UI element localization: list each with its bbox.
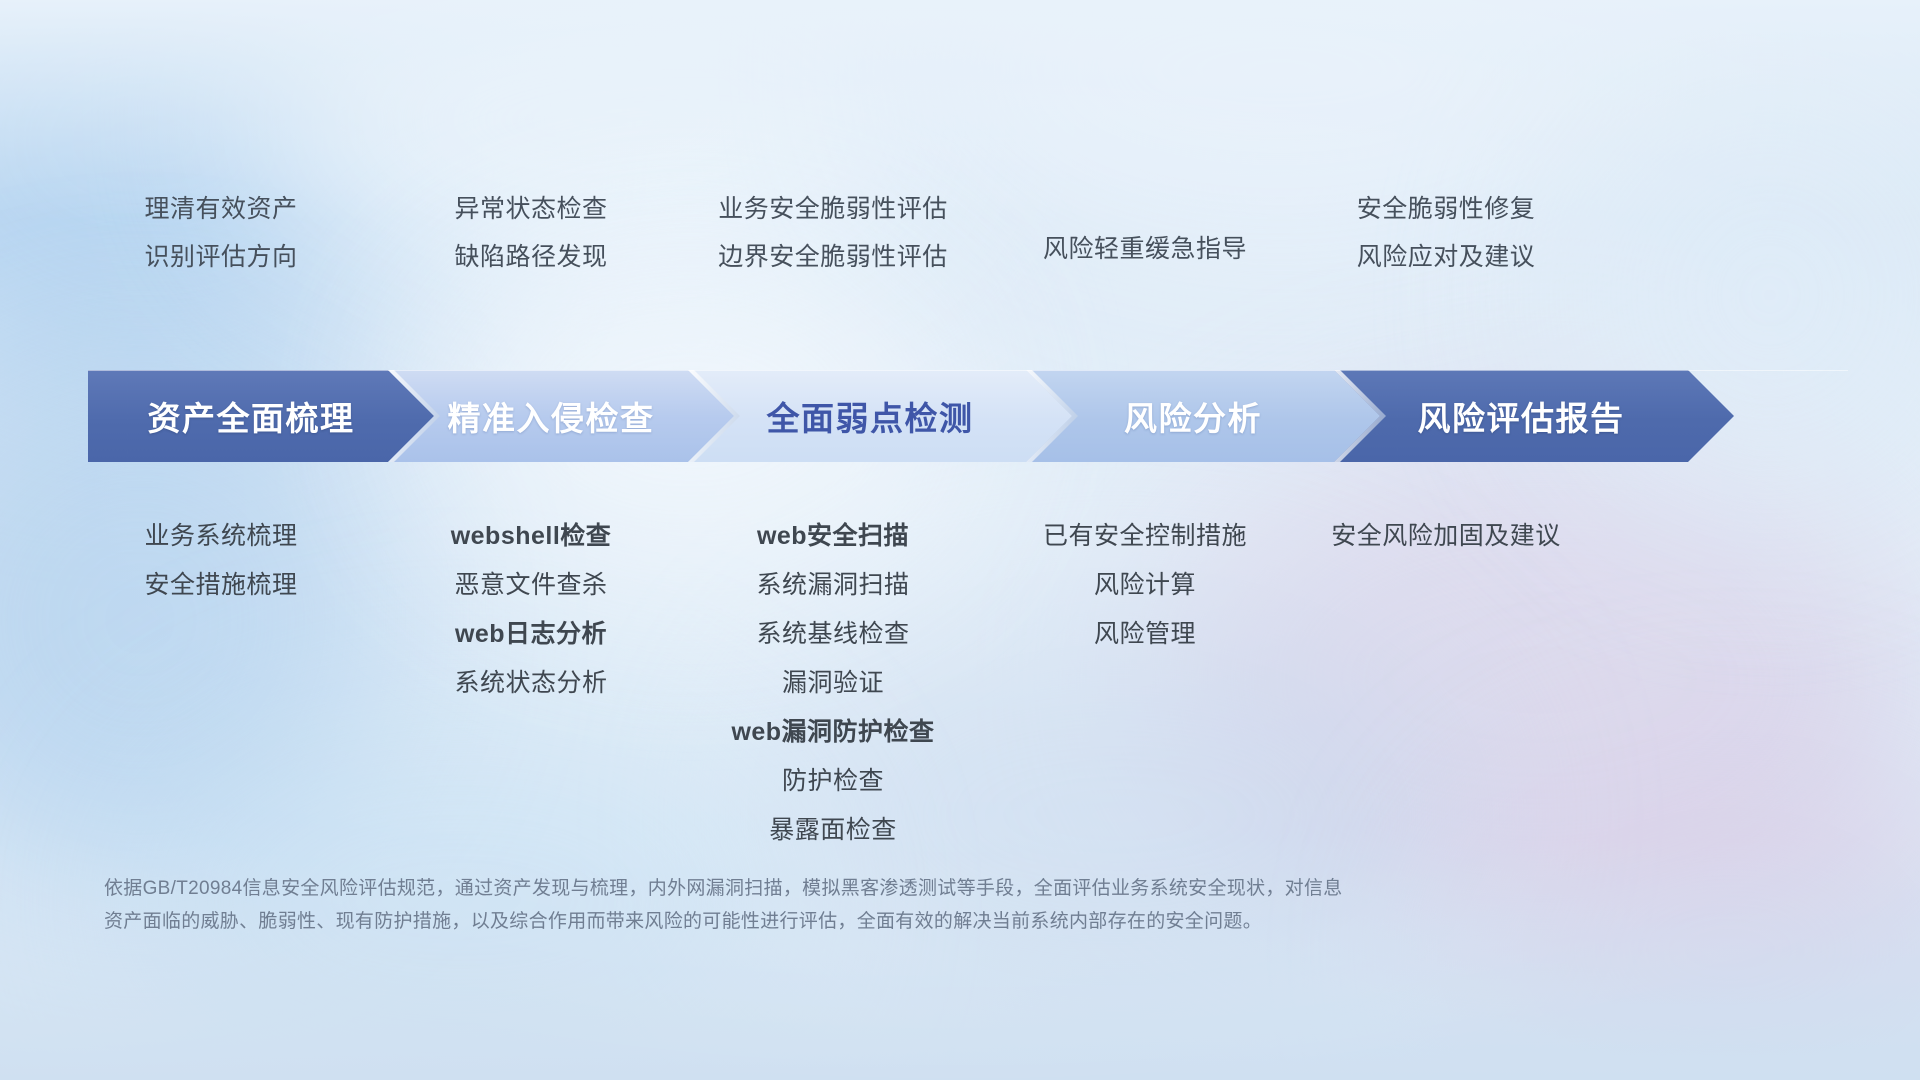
top-label: 异常状态检查 <box>390 185 672 233</box>
footer-line-1: 依据GB/T20984信息安全风险评估规范，通过资产发现与梳理，内外网漏洞扫描，… <box>104 872 1624 905</box>
top-label: 边界安全脆弱性评估 <box>672 233 994 281</box>
top-labels-risk-analysis: 风险轻重缓急指导 <box>994 185 1296 290</box>
list-item: 安全措施梳理 <box>52 561 390 610</box>
top-labels-intrusion-check: 异常状态检查 缺陷路径发现 <box>390 185 672 290</box>
list-item: 系统状态分析 <box>390 659 672 708</box>
list-item: 防护检查 <box>672 757 994 806</box>
bottom-items-risk-report: 安全风险加固及建议 <box>1296 512 1596 561</box>
process-diagram: 理清有效资产 识别评估方向 异常状态检查 缺陷路径发现 业务安全脆弱性评估 边界… <box>0 0 1920 1080</box>
bottom-items-asset-review: 业务系统梳理 安全措施梳理 <box>52 512 390 610</box>
bottom-items-intrusion-check: webshell检查 恶意文件查杀 web日志分析 系统状态分析 <box>390 512 672 708</box>
list-item: webshell检查 <box>390 512 672 561</box>
footer-line-2: 资产面临的威胁、脆弱性、现有防护措施，以及综合作用而带来风险的可能性进行评估，全… <box>104 905 1624 938</box>
footer-description: 依据GB/T20984信息安全风险评估规范，通过资产发现与梳理，内外网漏洞扫描，… <box>104 872 1624 938</box>
stage-arrow-band: 资产全面梳理 精准入侵检查 全面弱点检测 风险分析 风险评估报告 <box>88 370 1848 462</box>
stage-arrow-asset-review[interactable]: 资产全面梳理 <box>88 370 440 462</box>
list-item: 暴露面检查 <box>672 806 994 855</box>
stage-label: 风险评估报告 <box>1334 392 1734 440</box>
top-label: 识别评估方向 <box>52 233 390 281</box>
stage-arrow-intrusion-check[interactable]: 精准入侵检查 <box>388 370 740 462</box>
top-label: 风险应对及建议 <box>1296 233 1596 281</box>
top-labels-weakness-detection: 业务安全脆弱性评估 边界安全脆弱性评估 <box>672 185 994 290</box>
stage-label: 全面弱点检测 <box>688 392 1078 440</box>
stage-label: 资产全面梳理 <box>88 392 440 440</box>
stage-arrow-risk-analysis[interactable]: 风险分析 <box>1026 370 1386 462</box>
stage-arrow-risk-report[interactable]: 风险评估报告 <box>1334 370 1734 462</box>
stage-arrow-weakness-detection[interactable]: 全面弱点检测 <box>688 370 1078 462</box>
top-label: 风险轻重缓急指导 <box>994 225 1296 273</box>
list-item: web漏洞防护检查 <box>672 708 994 757</box>
stage-label: 精准入侵检查 <box>388 392 740 440</box>
top-label: 缺陷路径发现 <box>390 233 672 281</box>
list-item: 业务系统梳理 <box>52 512 390 561</box>
list-item: 风险管理 <box>994 610 1296 659</box>
bottom-items-weakness-detection: web安全扫描 系统漏洞扫描 系统基线检查 漏洞验证 web漏洞防护检查 防护检… <box>672 512 994 855</box>
top-labels-row: 理清有效资产 识别评估方向 异常状态检查 缺陷路径发现 业务安全脆弱性评估 边界… <box>0 185 1920 290</box>
list-item: 系统漏洞扫描 <box>672 561 994 610</box>
bottom-items-row: 业务系统梳理 安全措施梳理 webshell检查 恶意文件查杀 web日志分析 … <box>0 512 1920 855</box>
list-item: web日志分析 <box>390 610 672 659</box>
list-item: 漏洞验证 <box>672 659 994 708</box>
top-label: 理清有效资产 <box>52 185 390 233</box>
top-label: 安全脆弱性修复 <box>1296 185 1596 233</box>
bottom-items-risk-analysis: 已有安全控制措施 风险计算 风险管理 <box>994 512 1296 659</box>
list-item: 风险计算 <box>994 561 1296 610</box>
top-labels-asset-review: 理清有效资产 识别评估方向 <box>52 185 390 290</box>
list-item: 已有安全控制措施 <box>994 512 1296 561</box>
stage-label: 风险分析 <box>1026 392 1386 440</box>
list-item: web安全扫描 <box>672 512 994 561</box>
list-item: 安全风险加固及建议 <box>1296 512 1596 561</box>
list-item: 系统基线检查 <box>672 610 994 659</box>
list-item: 恶意文件查杀 <box>390 561 672 610</box>
top-labels-risk-report: 安全脆弱性修复 风险应对及建议 <box>1296 185 1596 290</box>
top-label: 业务安全脆弱性评估 <box>672 185 994 233</box>
